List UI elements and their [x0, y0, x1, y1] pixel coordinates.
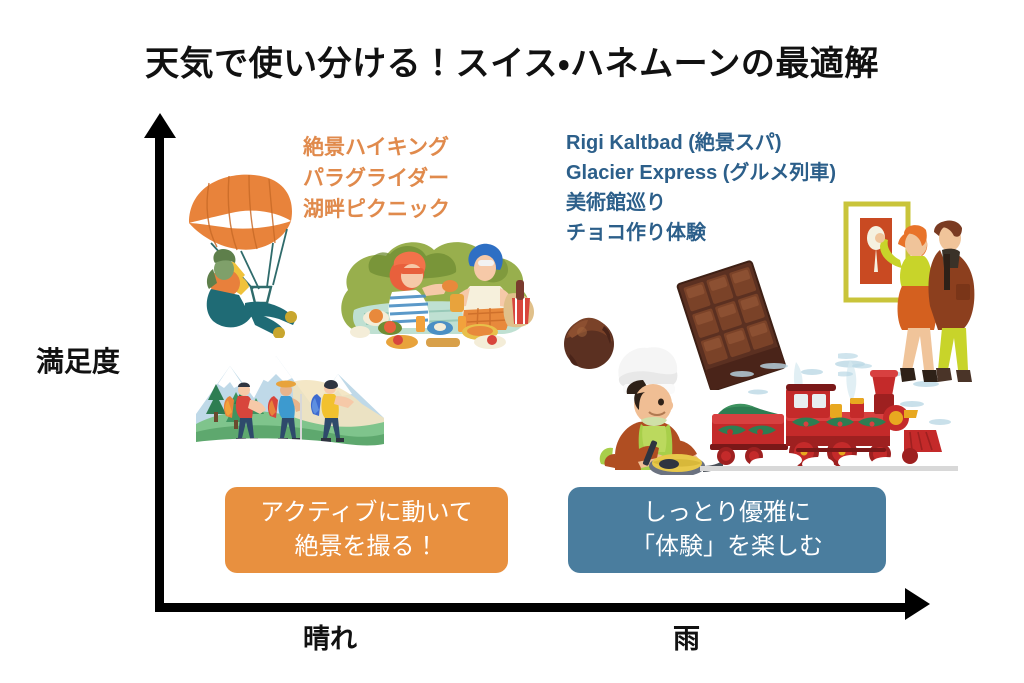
rain-activity-item: Glacier Express (グルメ列車): [566, 158, 836, 188]
y-axis-line: [155, 132, 164, 612]
museum-couple-illustration: [838, 190, 986, 390]
rain-summary-line-2: 「体験」を楽しむ: [631, 530, 823, 564]
x-axis-label-sunny: 晴れ: [303, 617, 357, 656]
sunny-summary-line-1: アクティブに動いて: [260, 496, 473, 530]
x-axis-label-rain: 雨: [673, 617, 700, 656]
rain-activity-list: Rigi Kaltbad (絶景スパ) Glacier Express (グルメ…: [566, 128, 836, 248]
x-axis-arrowhead-icon: [905, 588, 930, 620]
y-axis-arrowhead-icon: [144, 113, 176, 138]
page-title: 天気で使い分ける！スイス・ハネムーンの最適解: [0, 36, 1024, 85]
sunny-summary-badge: アクティブに動いて 絶景を撮る！: [225, 487, 508, 573]
x-axis-line: [155, 603, 910, 612]
sunny-summary-line-2: 絶景を撮る！: [295, 530, 439, 564]
rain-activity-item: 美術館巡り: [566, 188, 836, 218]
sunny-activity-item: パラグライダー: [303, 163, 450, 194]
mountain-hikers-illustration: [196, 338, 384, 458]
rain-summary-badge: しっとり優雅に 「体験」を楽しむ: [568, 487, 886, 573]
y-axis-label: 満足度: [36, 340, 120, 380]
rain-summary-line-1: しっとり優雅に: [643, 496, 811, 530]
rain-activity-item: チョコ作り体験: [566, 218, 836, 248]
infographic-canvas: 天気で使い分ける！スイス・ハネムーンの最適解: [0, 0, 1024, 683]
sunny-activity-item: 絶景ハイキング: [303, 132, 450, 163]
sunny-activity-item: 湖畔ピクニック: [303, 194, 450, 225]
rain-activity-item: Rigi Kaltbad (絶景スパ): [566, 128, 836, 158]
paraglider-illustration: [183, 163, 315, 338]
sunny-activity-list: 絶景ハイキング パラグライダー 湖畔ピクニック: [303, 132, 450, 225]
